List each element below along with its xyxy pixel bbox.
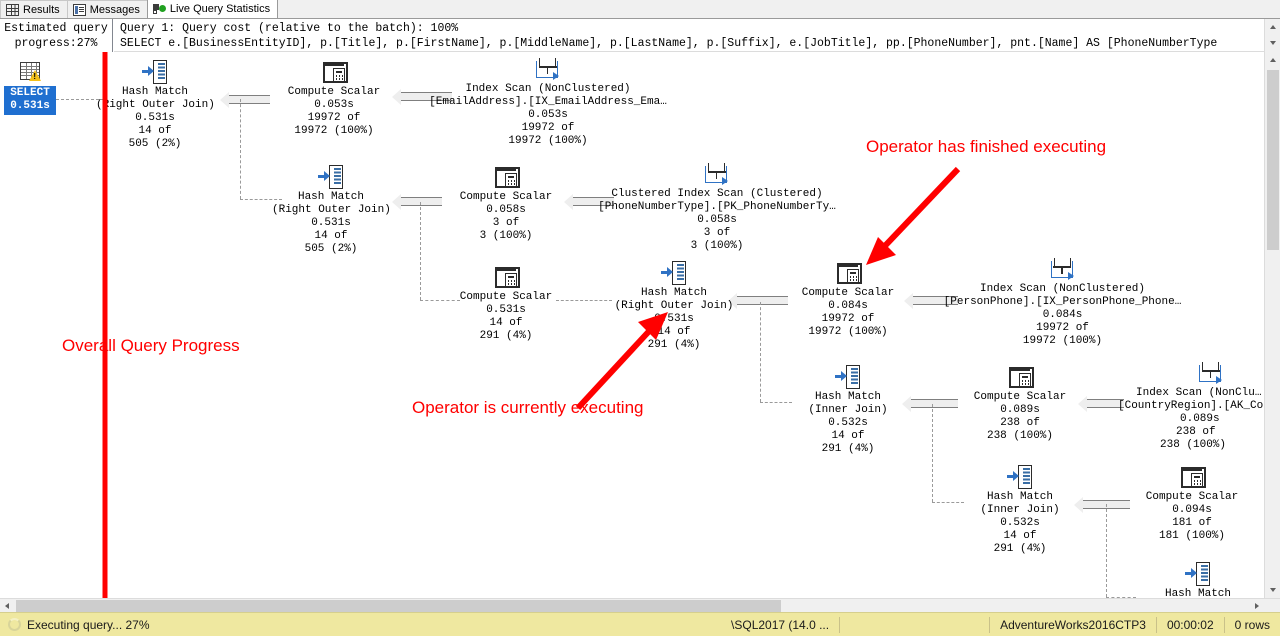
messages-icon [73, 4, 86, 16]
status-server: \SQL2017 (14.0 ... [721, 617, 839, 633]
status-right-group: \SQL2017 (14.0 ... AdventureWorks2016CTP… [721, 613, 1280, 637]
connector-hash4-to-hash3-h [760, 402, 792, 403]
select-node-label: SELECT 0.531s [4, 86, 56, 115]
tab-results[interactable]: Results [0, 0, 68, 18]
operator-compute-scalar-6[interactable]: Compute Scalar 0.094s 181 of 181 (100%) [1130, 465, 1254, 543]
connector-hash5-to-hash4-h [932, 502, 964, 503]
connector-hash4-to-hash3-v [760, 302, 761, 402]
connector-cs2-to-hash2 [400, 197, 442, 206]
tab-messages[interactable]: Messages [67, 0, 148, 18]
estimated-query-progress: Estimated query progress:27% [0, 19, 113, 52]
estimated-progress-line2: progress:27% [2, 36, 110, 51]
operator-compute-scalar-5[interactable]: Compute Scalar 0.089s 238 of 238 (100%) [958, 365, 1082, 443]
scroll-down-icon[interactable] [1265, 35, 1280, 51]
compute-scalar-icon [321, 60, 347, 84]
connector-cs5-to-hash4 [910, 399, 958, 408]
plan-vertical-scroll-thumb[interactable] [1267, 70, 1279, 250]
hash-match-icon [661, 261, 687, 285]
arrow-operator-finished [850, 157, 970, 277]
query-cost-line: Query 1: Query cost (relative to the bat… [120, 21, 1264, 36]
scroll-up-icon[interactable] [1265, 52, 1280, 68]
compute-scalar-icon [493, 165, 519, 189]
operator-hash-match-6[interactable]: Hash Match [1140, 562, 1256, 598]
operator-compute-scalar-1[interactable]: Compute Scalar 0.053s 19972 of 19972 (10… [272, 60, 396, 138]
scroll-up-icon[interactable] [1265, 19, 1280, 35]
connector-cs4-to-hash3 [736, 296, 788, 305]
operator-compute-scalar-2[interactable]: Compute Scalar 0.058s 3 of 3 (100%) [444, 165, 568, 243]
tab-messages-label: Messages [90, 4, 140, 16]
status-login [839, 617, 989, 633]
operator-hash-match-4[interactable]: Hash Match (Inner Join) 0.532s 14 of 291… [790, 365, 906, 456]
hash-match-icon [142, 60, 168, 84]
operator-hash-match-2[interactable]: Hash Match (Right Outer Join) 0.531s 14 … [272, 165, 390, 256]
plan-vertical-scrollbar[interactable] [1264, 52, 1280, 598]
operator-hash-match-5[interactable]: Hash Match (Inner Join) 0.532s 14 of 291… [962, 465, 1078, 556]
connector-hash2-to-hash1-v [240, 99, 241, 199]
tab-live-query-statistics-label: Live Query Statistics [170, 3, 270, 15]
connector-hash5-to-hash4-v [932, 404, 933, 502]
hash-match-icon [1007, 465, 1033, 489]
status-bar: Executing query... 27% \SQL2017 (14.0 ..… [0, 612, 1280, 636]
results-tabstrip: Results Messages Live Query Statistics [0, 0, 1280, 19]
estimated-progress-line1: Estimated query [2, 21, 110, 36]
status-database: AdventureWorks2016CTP3 [989, 617, 1156, 633]
status-execution-group: Executing query... 27% [0, 618, 150, 632]
query-sql-line: SELECT e.[BusinessEntityID], p.[Title], … [120, 36, 1264, 51]
select-node[interactable]: SELECT 0.531s [4, 62, 56, 115]
execution-plan-canvas[interactable]: SELECT 0.531s Hash Match (Right Outer Jo… [0, 52, 1264, 598]
query-plan-header: Estimated query progress:27% Query 1: Qu… [0, 19, 1280, 52]
busy-spinner-icon [8, 618, 21, 631]
select-result-icon [18, 62, 42, 84]
compute-scalar-icon [1179, 465, 1205, 489]
compute-scalar-icon [493, 265, 519, 289]
operator-index-scan-emailaddress[interactable]: Index Scan (NonClustered) [EmailAddress]… [424, 57, 672, 148]
annotation-overall-query-progress: Overall Query Progress [62, 336, 240, 356]
select-cost-text: 0.531s [10, 100, 50, 112]
connector-hash6-to-hash5-v [1106, 504, 1107, 597]
compute-scalar-icon [1007, 365, 1033, 389]
select-label-text: SELECT [10, 87, 50, 99]
scroll-down-icon[interactable] [1265, 582, 1280, 598]
arrow-overall-query-progress [80, 52, 130, 598]
scroll-left-icon[interactable] [0, 600, 15, 612]
live-query-statistics-icon [153, 3, 166, 15]
operator-clustered-index-scan-phonenumbertype[interactable]: Clustered Index Scan (Clustered) [PhoneN… [592, 162, 842, 253]
hash-match-icon [835, 365, 861, 389]
connector-cs1-to-hash1 [228, 95, 270, 104]
annotation-operator-executing: Operator is currently executing [412, 398, 644, 418]
tab-results-label: Results [23, 4, 60, 16]
index-scan-icon [535, 57, 561, 81]
hash-match-icon [1185, 562, 1211, 586]
scroll-right-icon[interactable] [1249, 600, 1264, 612]
index-scan-icon [1198, 361, 1224, 385]
plan-horizontal-scrollbar[interactable] [0, 598, 1280, 612]
status-row-count: 0 rows [1224, 617, 1280, 633]
operator-index-scan-countryregion[interactable]: Index Scan (NonClu… [CountryRegion].[AK_… [1118, 361, 1264, 452]
annotation-operator-finished: Operator has finished executing [866, 137, 1106, 157]
operator-index-scan-personphone[interactable]: Index Scan (NonClustered) [PersonPhone].… [940, 257, 1185, 348]
hash-match-icon [318, 165, 344, 189]
operator-compute-scalar-3[interactable]: Compute Scalar 0.531s 14 of 291 (4%) [444, 265, 568, 343]
header-vertical-scrollbar[interactable] [1264, 19, 1280, 52]
status-execution-text: Executing query... 27% [27, 618, 150, 632]
tab-live-query-statistics[interactable]: Live Query Statistics [147, 0, 278, 18]
status-elapsed-time: 00:00:02 [1156, 617, 1224, 633]
connector-cs3-to-hash2-v [420, 202, 421, 300]
grid-icon [6, 4, 19, 16]
index-scan-icon [1050, 257, 1076, 281]
clustered-index-scan-icon [704, 162, 730, 186]
query-cost-and-sql: Query 1: Query cost (relative to the bat… [114, 19, 1264, 52]
plan-horizontal-scroll-thumb[interactable] [16, 600, 781, 612]
